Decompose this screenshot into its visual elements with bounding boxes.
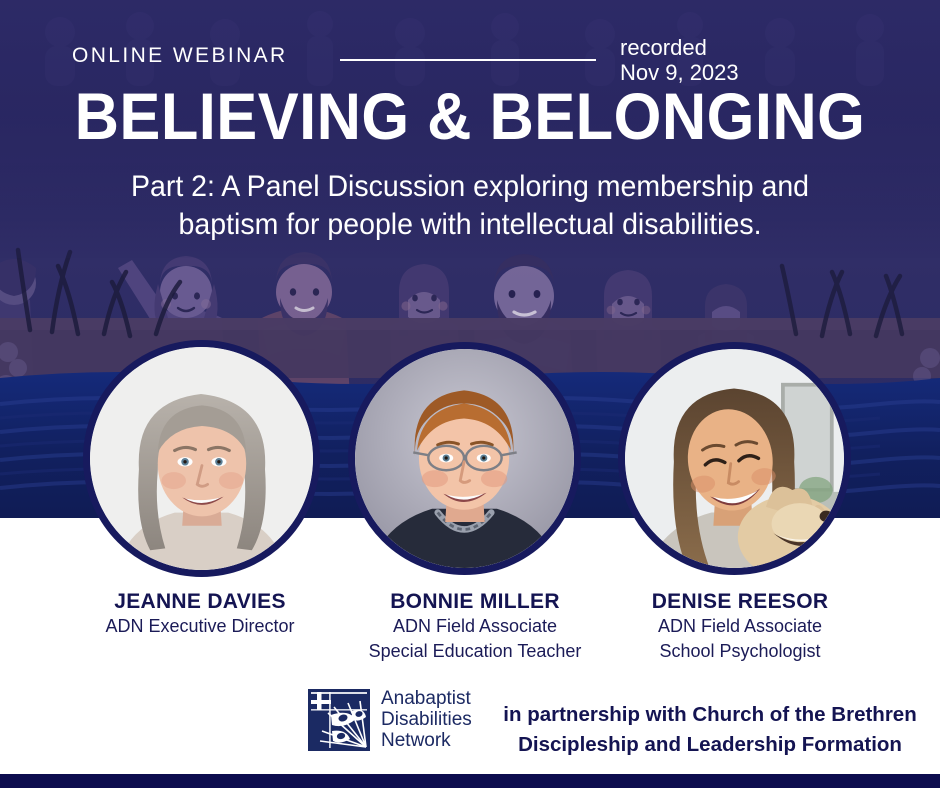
adn-logo-wordmark: Anabaptist Disabilities Network bbox=[381, 688, 472, 751]
header-row: ONLINE WEBINAR recorded Nov 9, 2023 bbox=[0, 20, 940, 66]
recorded-date-block: recorded Nov 9, 2023 bbox=[620, 35, 739, 85]
page-subtitle: Part 2: A Panel Discussion exploring mem… bbox=[109, 168, 831, 244]
speaker-photo-bonnie-miller bbox=[348, 342, 581, 575]
portrait-bonnie-miller-image bbox=[355, 349, 574, 568]
recorded-label: recorded bbox=[620, 35, 739, 60]
speaker-caption-3: DENISE REESOR ADN Field Associate School… bbox=[600, 590, 880, 664]
bottom-accent-bar bbox=[0, 774, 940, 788]
adn-logo-mark-icon bbox=[308, 689, 370, 751]
kicker-label: ONLINE WEBINAR bbox=[72, 44, 288, 68]
speaker-role-secondary: School Psychologist bbox=[600, 639, 880, 664]
adn-logo-line-2: Disabilities bbox=[381, 709, 472, 730]
adn-logo: Anabaptist Disabilities Network bbox=[308, 688, 472, 751]
speaker-captions: JEANNE DAVIES ADN Executive Director BON… bbox=[0, 590, 940, 670]
speaker-role-primary: ADN Field Associate bbox=[335, 614, 615, 639]
speaker-name: DENISE REESOR bbox=[600, 590, 880, 614]
partnership-line-1: in partnership with Church of the Brethr… bbox=[486, 700, 934, 730]
speaker-caption-1: JEANNE DAVIES ADN Executive Director bbox=[60, 590, 340, 639]
adn-logo-line-1: Anabaptist bbox=[381, 688, 472, 709]
speaker-name: BONNIE MILLER bbox=[335, 590, 615, 614]
partnership-text: in partnership with Church of the Brethr… bbox=[486, 700, 934, 760]
page-title: BELIEVING & BELONGING bbox=[33, 80, 907, 152]
speaker-caption-2: BONNIE MILLER ADN Field Associate Specia… bbox=[335, 590, 615, 664]
speaker-photo-denise-reesor bbox=[618, 342, 851, 575]
footer: Anabaptist Disabilities Network in partn… bbox=[0, 680, 940, 772]
header-divider-rule bbox=[340, 59, 596, 61]
speaker-name: JEANNE DAVIES bbox=[60, 590, 340, 614]
portrait-denise-reesor-image bbox=[625, 349, 844, 568]
portrait-jeanne-davies-image bbox=[90, 347, 313, 570]
webinar-promo-poster: ONLINE WEBINAR recorded Nov 9, 2023 BELI… bbox=[0, 0, 940, 788]
adn-logo-line-3: Network bbox=[381, 730, 472, 751]
partnership-line-2: Discipleship and Leadership Formation bbox=[486, 730, 934, 760]
speaker-photo-jeanne-davies bbox=[83, 340, 320, 577]
speaker-role-primary: ADN Field Associate bbox=[600, 614, 880, 639]
speaker-role-secondary: Special Education Teacher bbox=[335, 639, 615, 664]
speaker-role-primary: ADN Executive Director bbox=[60, 614, 340, 639]
